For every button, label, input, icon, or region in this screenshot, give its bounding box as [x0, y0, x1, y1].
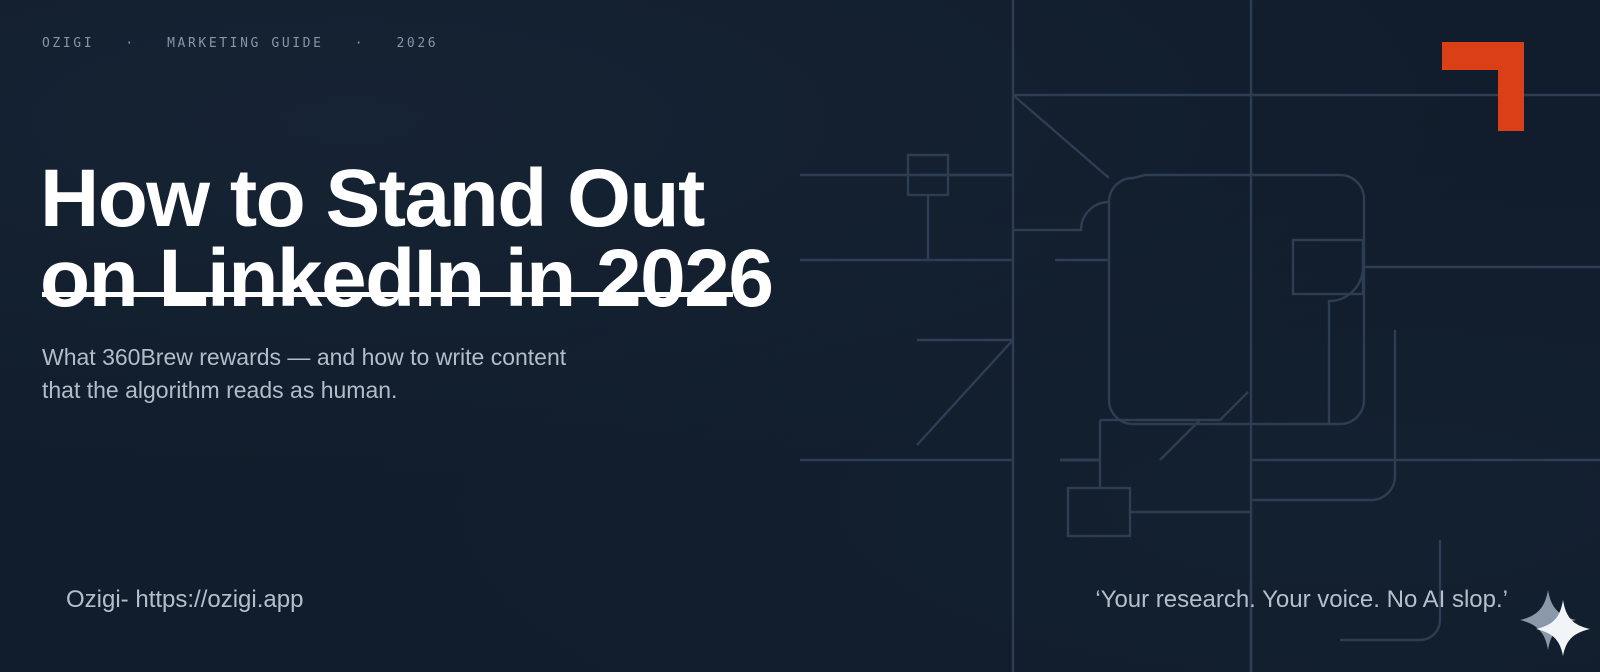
subtitle: What 360Brew rewards — and how to write … — [42, 341, 702, 408]
subtitle-line-2: that the algorithm reads as human. — [42, 374, 702, 407]
footer-attribution: Ozigi- https://ozigi.app — [66, 586, 303, 614]
eyebrow-label: OZIGI · MARKETING GUIDE · 2026 — [42, 36, 438, 51]
footer-tagline: ‘Your research. Your voice. No AI slop.’ — [1095, 586, 1508, 614]
page-title-line-2: on LinkedIn in 2026 — [40, 239, 900, 319]
title-underline-rule — [42, 292, 733, 297]
subtitle-line-1: What 360Brew rewards — and how to write … — [42, 344, 566, 370]
sparkle-icon — [1518, 582, 1594, 658]
cover-slide: OZIGI · MARKETING GUIDE · 2026 How to St… — [0, 0, 1600, 672]
corner-bracket-icon — [1442, 42, 1524, 131]
page-title-line-1: How to Stand Out — [40, 153, 704, 244]
corner-bracket-vertical-bar — [1498, 42, 1524, 131]
